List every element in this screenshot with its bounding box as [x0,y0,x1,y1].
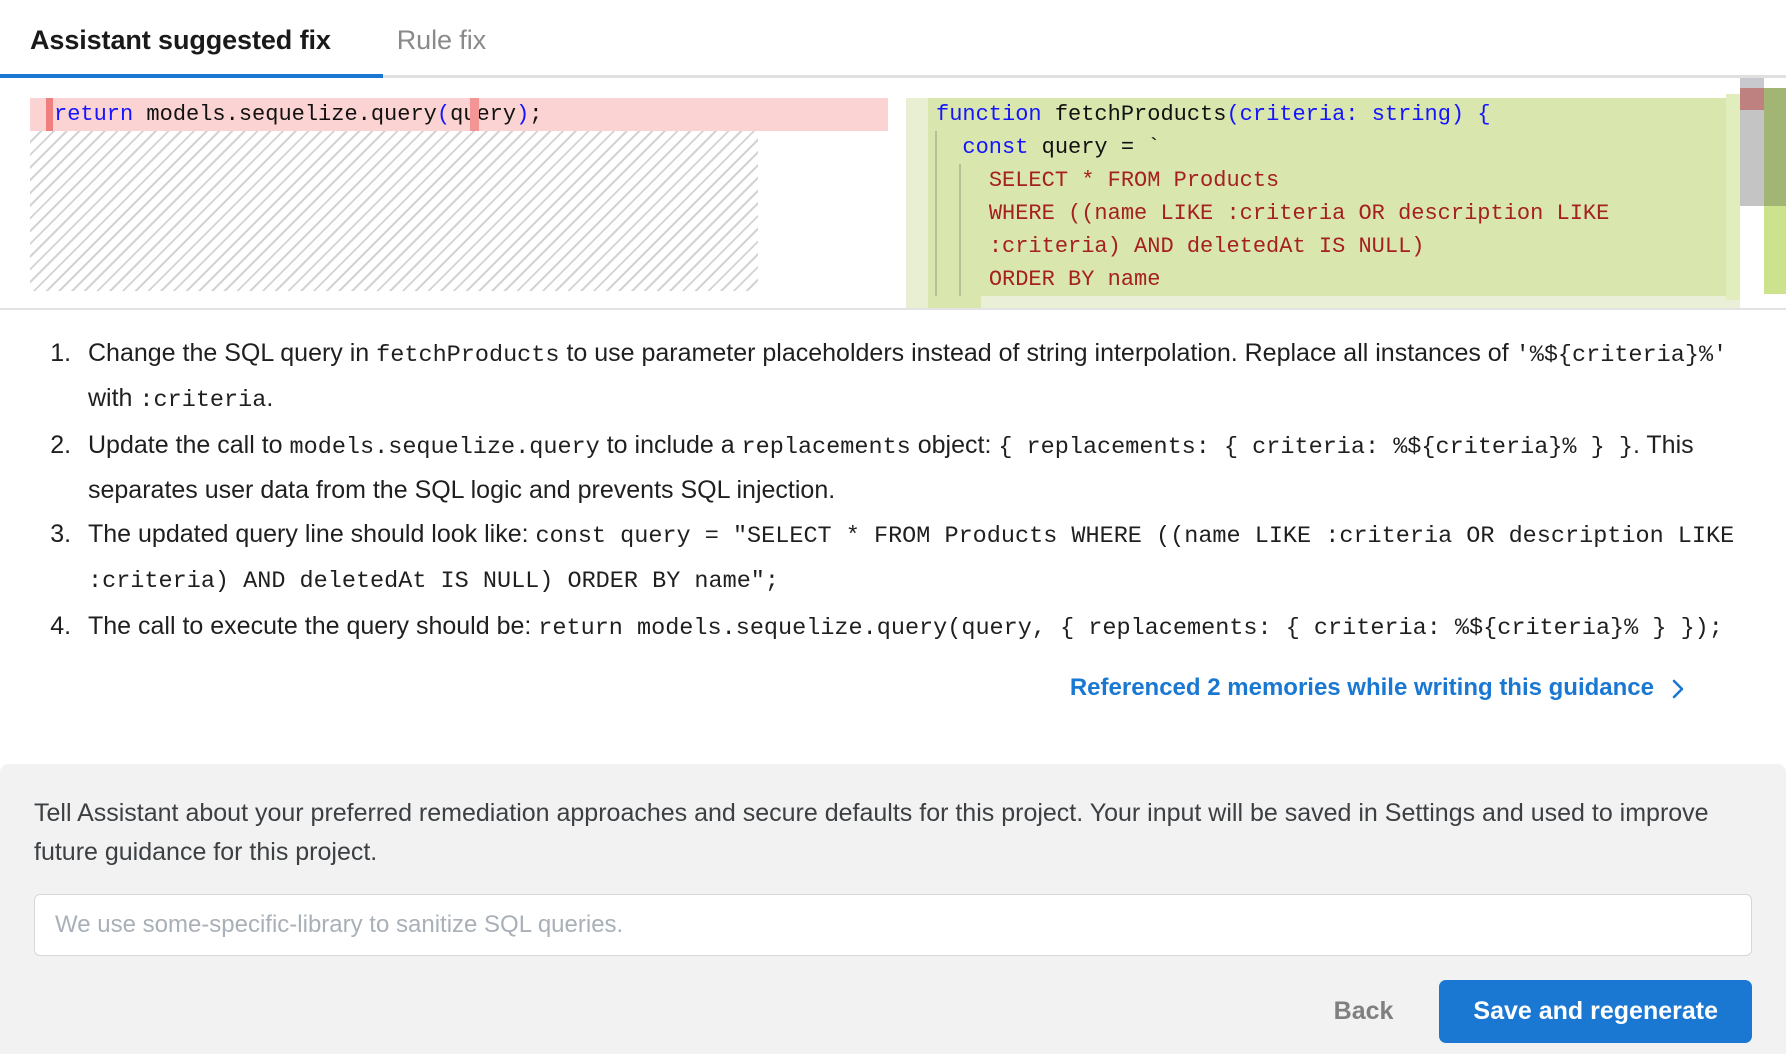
step-2-code-3: { replacements: { criteria: %${criteria}… [998,434,1633,461]
code-token-signature-open: (criteria: [1226,102,1371,127]
code-token-paren-close: ) [516,98,529,131]
minimap-scrollbar-thumb[interactable] [1740,110,1764,206]
diff-added-line-7-partial [981,296,1740,310]
step-2-part-3: object: [911,431,999,459]
diff-empty-hatch-region [30,131,758,291]
diff-pane-original[interactable]: return models.sequelize.query(query); [0,78,888,310]
code-token-sql-where: WHERE ((name LIKE :criteria OR descripti… [989,201,1610,226]
diff-panes: return models.sequelize.query(query); fu… [0,78,1786,310]
diff-added-line-5: :criteria) AND deletedAt IS NULL) [906,230,1740,263]
step-2-part-1: Update the call to [88,431,290,459]
feedback-actions: Back Save and regenerate [34,980,1752,1043]
step-2-code-1: models.sequelize.query [290,434,600,461]
diff-added-line-6: ORDER BY name [906,263,1740,296]
step-4-part-1: The call to execute the query should be: [88,612,538,640]
minimap-added-marker-dark [1764,88,1786,206]
step-1-part-3: with [88,384,139,412]
code-token-fn-name: fetchProducts [1042,102,1227,127]
diff-viewer: return models.sequelize.query(query); fu… [0,78,1786,310]
feedback-panel: Tell Assistant about your preferred reme… [0,764,1786,1054]
diff-removed-endcap [470,98,479,131]
code-token-type-string: string [1372,102,1451,127]
feedback-input[interactable] [34,894,1752,956]
step-2-part-2: to include a [600,431,742,459]
code-token-function: function [936,102,1042,127]
step-1-code-2: '%${criteria}%' [1516,342,1728,369]
code-token-signature-close: ) { [1451,102,1491,127]
referenced-memories-link[interactable]: Referenced 2 memories while writing this… [1070,674,1688,702]
step-2-code-2: replacements [742,434,911,461]
guidance-section: Change the SQL query in fetchProducts to… [0,310,1786,702]
step-1-part-4: . [266,384,273,412]
referenced-memories-label: Referenced 2 memories while writing this… [1070,674,1654,702]
tab-assistant-suggested-fix[interactable]: Assistant suggested fix [30,25,383,78]
memories-row: Referenced 2 memories while writing this… [40,652,1746,702]
code-token-const: const [962,135,1028,160]
code-token-call-path: models.sequelize.query [133,98,437,131]
save-and-regenerate-button[interactable]: Save and regenerate [1439,980,1752,1043]
guidance-step-3: The updated query line should look like:… [78,513,1746,603]
diff-added-line-4: WHERE ((name LIKE :criteria OR descripti… [906,197,1740,230]
diff-added-line-2: const query = ` [906,131,1740,164]
step-1-part-1: Change the SQL query in [88,339,376,367]
step-1-part-2: to use parameter placeholders instead of… [560,339,1516,367]
guidance-step-list: Change the SQL query in fetchProducts to… [40,332,1746,650]
step-1-code-1: fetchProducts [376,342,559,369]
diff-overview-ruler[interactable] [1740,78,1786,310]
tab-bar: Assistant suggested fix Rule fix [0,0,1786,78]
guidance-step-2: Update the call to models.sequelize.quer… [78,424,1746,511]
code-token-return: return [54,98,133,131]
minimap-scrollbar-track [1740,78,1764,88]
feedback-description: Tell Assistant about your preferred reme… [34,794,1744,872]
minimap-removed-marker [1740,88,1764,110]
tab-assistant-suggested-fix-label: Assistant suggested fix [30,25,331,55]
diff-pane-suggested[interactable]: function fetchProducts(criteria: string)… [888,78,1740,310]
diff-added-line-1: function fetchProducts(criteria: string)… [906,98,1740,131]
tab-list: Assistant suggested fix Rule fix [0,0,1786,78]
guidance-step-1: Change the SQL query in fetchProducts to… [78,332,1746,422]
diff-added-block: function fetchProducts(criteria: string)… [906,98,1740,310]
step-4-code-1: return models.sequelize.query(query, { r… [538,615,1723,642]
diff-removed-line: return models.sequelize.query(query); [30,98,888,131]
code-token-argument: query [450,98,516,131]
guidance-step-4: The call to execute the query should be:… [78,605,1746,650]
minimap-added-strip [1726,94,1740,300]
chevron-right-icon [1668,678,1688,698]
code-token-query-assign: query = ` [1028,135,1160,160]
code-token-sql-criteria: :criteria) AND deletedAt IS NULL) [989,234,1425,259]
code-token-sql-orderby: ORDER BY name [989,267,1161,292]
diff-added-line-3: SELECT * FROM Products [906,164,1740,197]
code-token-paren-open: ( [437,98,450,131]
step-3-part-1: The updated query line should look like: [88,520,536,548]
code-token-semicolon: ; [529,98,542,131]
step-1-code-3: :criteria [139,387,266,414]
tab-rule-fix[interactable]: Rule fix [383,25,516,78]
back-button[interactable]: Back [1316,987,1412,1036]
code-token-sql-select: SELECT * FROM Products [989,168,1279,193]
tab-rule-fix-label: Rule fix [397,25,486,55]
minimap-added-marker-light [1764,206,1786,294]
